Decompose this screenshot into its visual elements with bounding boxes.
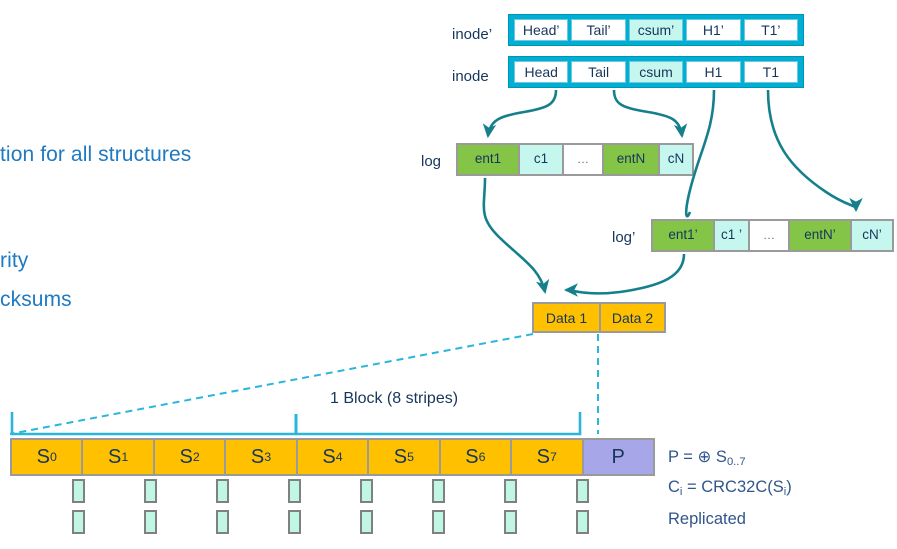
- log-prime-cell-0[interactable]: ent1’: [653, 221, 715, 250]
- slide-text-line-1: rity: [0, 250, 28, 271]
- parity-cell[interactable]: P: [584, 440, 653, 474]
- diagram-canvas: tion for all structuresritycksums inode’…: [0, 0, 897, 549]
- log-cell-0[interactable]: ent1: [458, 145, 520, 174]
- inode-prime-cell-4[interactable]: T1’: [744, 19, 798, 41]
- arrow-tail-to-cn: [614, 90, 682, 136]
- checksum-chip-r1-c6: [504, 510, 517, 534]
- checksum-chip-r1-c4: [360, 510, 373, 534]
- inode-prime-structure[interactable]: Head’Tail’csum’H1’T1’: [508, 14, 804, 46]
- checksum-chip-r0-c7: [576, 479, 589, 503]
- arrow-head-to-ent1: [488, 90, 556, 136]
- log-cell-2[interactable]: …: [564, 145, 604, 174]
- stripe-cell-7[interactable]: S7: [512, 440, 583, 474]
- stripe-cell-4[interactable]: S4: [298, 440, 369, 474]
- log-prime-label: log’: [612, 230, 635, 245]
- inode-label: inode: [452, 69, 489, 84]
- log-prime-cell-4[interactable]: cN’: [852, 221, 892, 250]
- block-bracket: [12, 412, 580, 434]
- stripe-cell-6[interactable]: S6: [441, 440, 512, 474]
- formula-line-1: Ci = CRC32C(Si): [668, 479, 792, 498]
- checksum-chip-r0-c1: [144, 479, 157, 503]
- log-prime-cell-2[interactable]: …: [750, 221, 790, 250]
- inode-cell-0[interactable]: Head: [514, 61, 568, 83]
- inode-cell-4[interactable]: T1: [744, 61, 798, 83]
- inode-prime-cell-3[interactable]: H1’: [686, 19, 740, 41]
- checksum-chip-r1-c0: [72, 510, 85, 534]
- checksum-chip-r1-c2: [216, 510, 229, 534]
- log-cell-4[interactable]: cN: [660, 145, 692, 174]
- stripe-cell-1[interactable]: S1: [83, 440, 154, 474]
- inode-structure[interactable]: HeadTailcsumH1T1: [508, 56, 804, 88]
- log-cell-3[interactable]: entN: [604, 145, 660, 174]
- inode-cell-2[interactable]: csum: [629, 61, 683, 83]
- inode-prime-cell-1[interactable]: Tail’: [571, 19, 625, 41]
- checksum-chip-r0-c2: [216, 479, 229, 503]
- formula-line-0: P = ⊕ S0..7: [668, 449, 746, 468]
- inode-cell-3[interactable]: H1: [686, 61, 740, 83]
- inode-prime-cell-2[interactable]: csum’: [629, 19, 683, 41]
- stripe-row[interactable]: S0S1S2S3S4S5S6S7P: [10, 438, 655, 476]
- slide-text-line-0: tion for all structures: [0, 144, 191, 165]
- checksum-chip-r1-c3: [288, 510, 301, 534]
- log-prime-structure[interactable]: ent1’c1 ’…entN’cN’: [651, 219, 894, 252]
- checksum-chip-r0-c4: [360, 479, 373, 503]
- stripe-cell-0[interactable]: S0: [12, 440, 83, 474]
- data-block-0[interactable]: Data 1: [534, 304, 601, 331]
- data-blocks[interactable]: Data 1Data 2: [532, 302, 666, 333]
- log-label: log: [421, 154, 441, 169]
- block-caption: 1 Block (8 stripes): [330, 391, 458, 407]
- formula-line-2: Replicated: [668, 511, 746, 528]
- stripe-cell-2[interactable]: S2: [155, 440, 226, 474]
- guide-left-dashed: [10, 334, 533, 434]
- log-prime-cell-3[interactable]: entN’: [790, 221, 852, 250]
- slide-text-line-2: cksums: [0, 289, 72, 310]
- checksum-chip-r1-c5: [432, 510, 445, 534]
- stripe-cell-5[interactable]: S5: [369, 440, 440, 474]
- checksum-chip-r1-c7: [576, 510, 589, 534]
- log-cell-1[interactable]: c1: [520, 145, 564, 174]
- checksum-chip-r0-c6: [504, 479, 517, 503]
- checksum-chip-r0-c3: [288, 479, 301, 503]
- log-prime-cell-1[interactable]: c1 ’: [715, 221, 750, 250]
- stripe-cell-3[interactable]: S3: [226, 440, 297, 474]
- inode-cell-1[interactable]: Tail: [571, 61, 625, 83]
- arrow-t1-to-cn-prime: [768, 90, 856, 210]
- checksum-chip-r0-c5: [432, 479, 445, 503]
- inode-prime-cell-0[interactable]: Head’: [514, 19, 568, 41]
- checksum-chip-r1-c1: [144, 510, 157, 534]
- inode-prime-label: inode’: [452, 27, 492, 42]
- arrow-ent1-to-data1: [484, 178, 545, 292]
- checksum-chip-r0-c0: [72, 479, 85, 503]
- arrow-ent1-prime-to-data1: [566, 254, 684, 293]
- data-block-1[interactable]: Data 2: [601, 304, 664, 331]
- log-structure[interactable]: ent1c1…entNcN: [456, 143, 694, 176]
